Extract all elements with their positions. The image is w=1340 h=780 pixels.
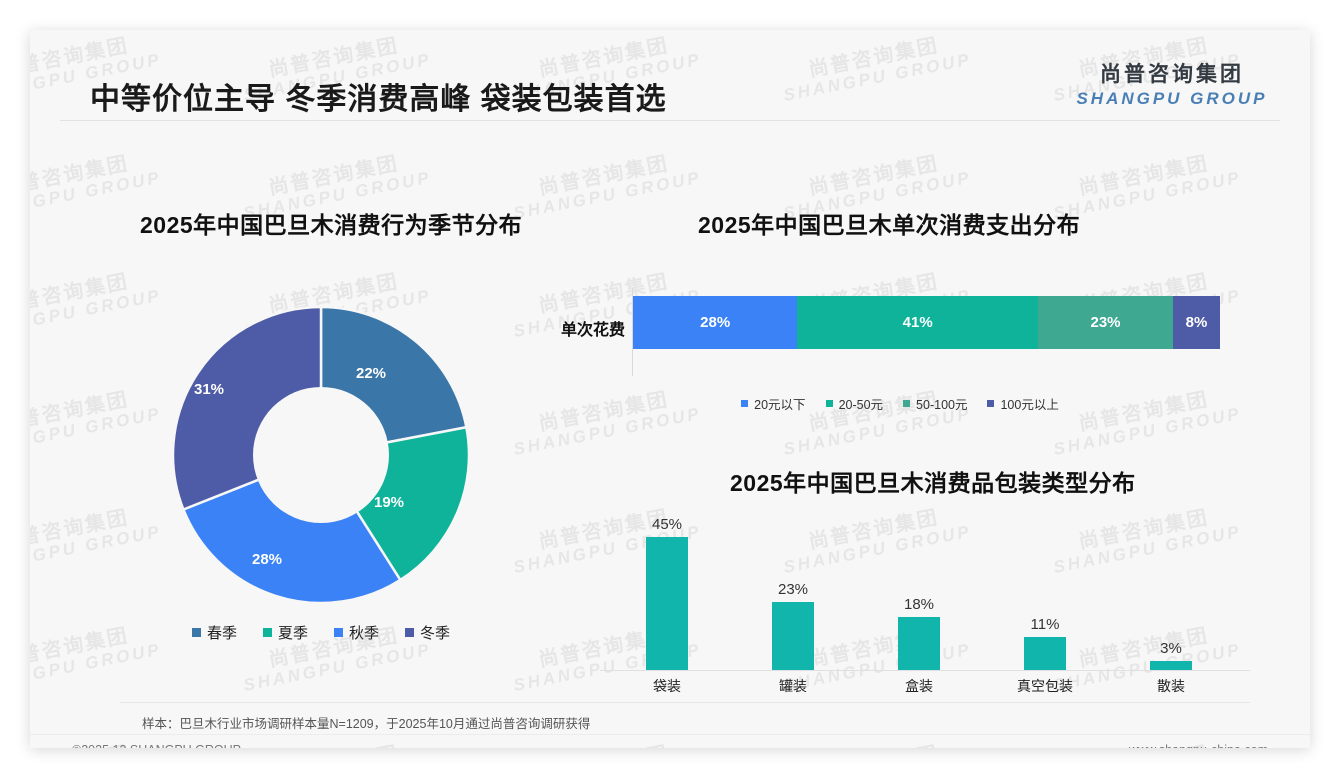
donut-slice-label: 19% [374,494,404,511]
legend-item-label: 50-100元 [916,394,967,413]
bar-column[interactable]: 23% [730,581,856,670]
legend-item[interactable]: 夏季 [263,622,308,643]
spend-stacked-bar-chart: 单次花费 28%41%23%8% [530,288,1270,388]
bar-column[interactable]: 18% [856,596,982,670]
legend-item[interactable]: 冬季 [405,622,450,643]
footer-divider [30,734,1310,735]
stacked-bar-segment[interactable]: 41% [797,296,1038,349]
donut-slice-label: 28% [252,551,282,568]
bar-value-label: 45% [604,516,730,533]
bar-rect[interactable] [1150,661,1192,670]
donut-chart-title: 2025年中国巴旦木消费行为季节分布 [140,206,522,240]
stacked-bar-segment[interactable]: 23% [1038,296,1173,349]
legend-item-label: 夏季 [278,622,308,643]
legend-item[interactable]: 春季 [192,622,237,643]
stacked-bar-segment[interactable]: 8% [1173,296,1220,349]
stacked-bar-legend: 20元以下20-50元50-100元100元以上 [530,394,1270,413]
donut-slice-label: 31% [194,381,224,398]
bar-rect[interactable] [898,617,940,670]
stacked-bar-segment[interactable]: 28% [633,296,797,349]
bar-column[interactable]: 45% [604,516,730,670]
page-title: 中等价位主导 冬季消费高峰 袋装包装首选 [90,74,667,118]
legend-item[interactable]: 秋季 [334,622,379,643]
legend-item-label: 春季 [207,622,237,643]
bar-category-label: 真空包装 [982,676,1108,696]
bar-category-label: 袋装 [604,676,730,696]
bar-rect[interactable] [772,602,814,670]
bar-value-label: 11% [982,616,1108,633]
logo-english-text: SHANGPU GROUP [1072,89,1272,109]
watermark-tile: 尚普咨询集团SHANGPU GROUP [508,738,703,748]
legend-swatch-icon [263,628,272,637]
bar-category-label: 散装 [1108,676,1234,696]
legend-swatch-icon [334,628,343,637]
stacked-bar-chart-title: 2025年中国巴旦木单次消费支出分布 [698,206,1080,240]
bar-value-label: 3% [1108,640,1234,657]
bar-chart-baseline [600,670,1250,671]
bar-rect[interactable] [1024,637,1066,670]
sample-footnote: 样本：巴旦木行业市场调研样本量N=1209，于2025年10月通过尚普咨询调研获… [142,713,590,732]
legend-swatch-icon [826,400,833,407]
donut-hole [253,387,389,523]
bar-rect[interactable] [646,537,688,670]
stacked-bar-row-label: 单次花费 [530,316,625,340]
watermark-tile: 尚普咨询集团SHANGPU GROUP [508,148,703,223]
bar-value-label: 23% [730,581,856,598]
seasonal-donut-chart: 22%19%28%31% [136,275,506,635]
legend-item-label: 100元以上 [1000,394,1058,413]
bar-column[interactable]: 11% [982,616,1108,670]
legend-swatch-icon [903,400,910,407]
brand-logo: 尚普咨询集团 SHANGPU GROUP [1072,58,1272,109]
slide-page: 尚普咨询集团SHANGPU GROUP尚普咨询集团SHANGPU GROUP尚普… [30,30,1310,748]
bar-value-label: 18% [856,596,982,613]
logo-chinese-text: 尚普咨询集团 [1072,58,1272,88]
stacked-bar-track: 28%41%23%8% [633,296,1220,349]
legend-item[interactable]: 20-50元 [826,394,883,413]
legend-item[interactable]: 50-100元 [903,394,967,413]
legend-item-label: 秋季 [349,622,379,643]
packaging-bar-chart: 45%23%18%11%3% 袋装罐装盒装真空包装散装 [590,510,1250,710]
donut-legend: 春季夏季秋季冬季 [136,622,506,643]
watermark-tile: 尚普咨询集团SHANGPU GROUP [238,738,433,748]
legend-item-label: 20元以下 [754,394,805,413]
bar-column[interactable]: 3% [1108,640,1234,670]
donut-slice-label: 22% [356,365,386,382]
legend-swatch-icon [741,400,748,407]
footnote-divider [120,702,1250,703]
legend-item-label: 冬季 [420,622,450,643]
bar-category-label: 罐装 [730,676,856,696]
slide-header: 中等价位主导 冬季消费高峰 袋装包装首选 尚普咨询集团 SHANGPU GROU… [30,30,1310,118]
legend-swatch-icon [192,628,201,637]
legend-item[interactable]: 100元以上 [987,394,1058,413]
legend-item[interactable]: 20元以下 [741,394,805,413]
watermark-tile: 尚普咨询集团SHANGPU GROUP [778,738,973,748]
legend-swatch-icon [405,628,414,637]
legend-item-label: 20-50元 [839,394,883,413]
title-divider [60,120,1280,121]
footer-website[interactable]: www.shangpu-china.com [1129,743,1268,748]
donut-svg [136,275,506,635]
legend-swatch-icon [987,400,994,407]
bar-category-label: 盒装 [856,676,982,696]
packaging-bar-chart-title: 2025年中国巴旦木消费品包装类型分布 [730,464,1136,498]
footer-copyright: ©2025.12 SHANGPU GROUP [72,743,241,748]
